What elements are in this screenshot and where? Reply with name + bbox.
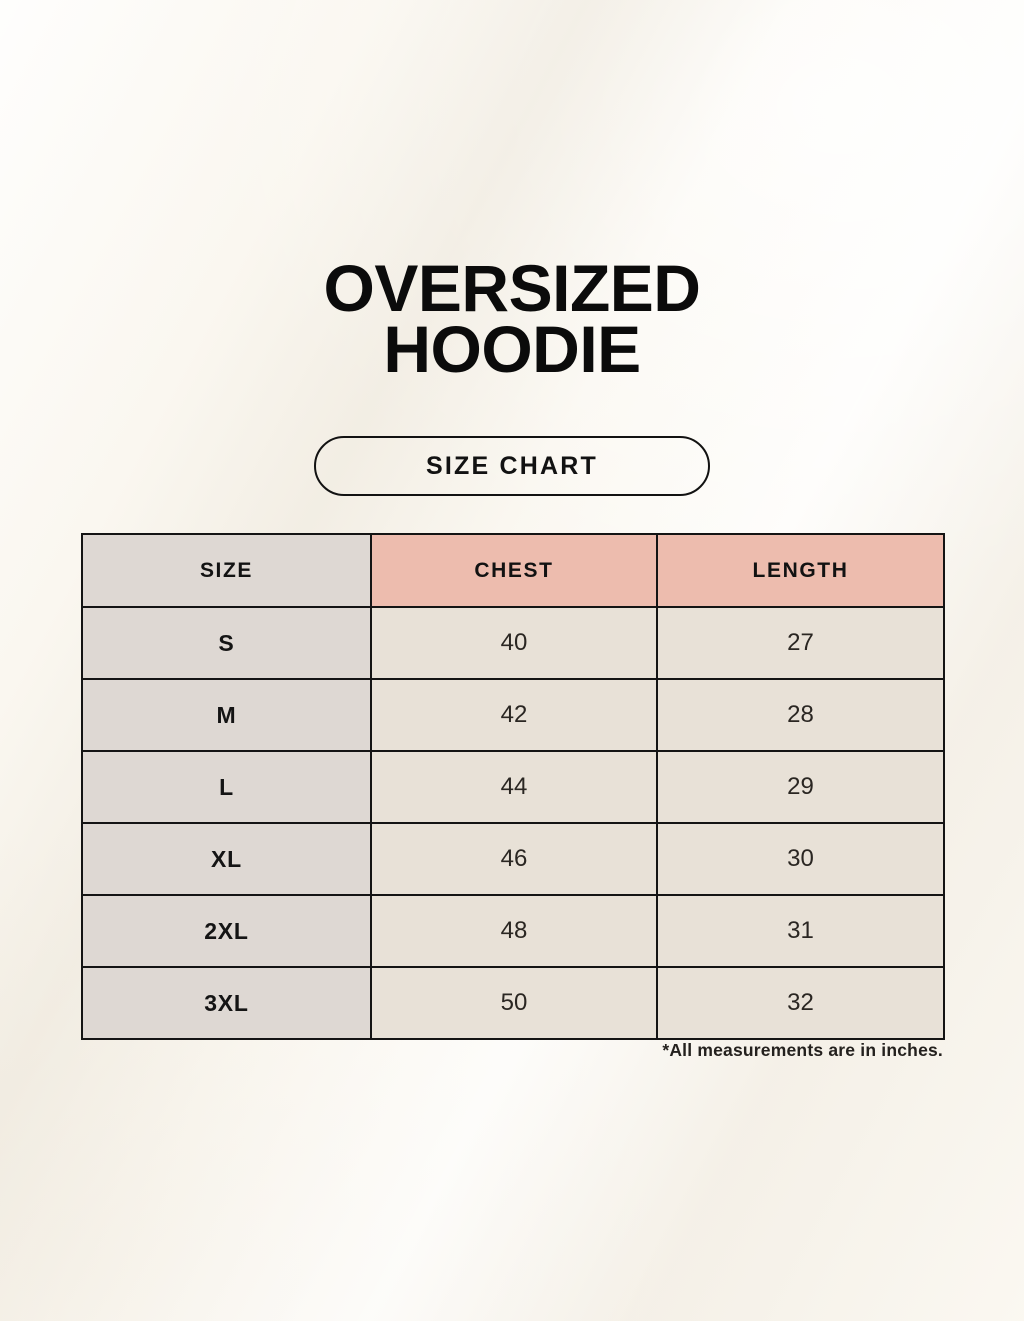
- size-chart-badge: SIZE CHART: [314, 436, 710, 496]
- column-header-length: LENGTH: [657, 534, 944, 607]
- size-chart-page: OVERSIZED HOODIE SIZE CHART SIZE CHEST L…: [0, 0, 1024, 1321]
- page-title-line-1: OVERSIZED: [0, 258, 1024, 319]
- measurement-units-note: *All measurements are in inches.: [81, 1040, 943, 1061]
- cell-length: 28: [657, 679, 944, 751]
- cell-size: L: [82, 751, 371, 823]
- cell-size: M: [82, 679, 371, 751]
- cell-size: 2XL: [82, 895, 371, 967]
- table-row: M 42 28: [82, 679, 944, 751]
- column-header-chest: CHEST: [371, 534, 657, 607]
- size-chart-table: SIZE CHEST LENGTH S 40 27 M 42 28 L: [81, 533, 945, 1040]
- table-body: S 40 27 M 42 28 L 44 29 XL 46 30: [82, 607, 944, 1039]
- cell-size: XL: [82, 823, 371, 895]
- cell-length: 30: [657, 823, 944, 895]
- cell-length: 31: [657, 895, 944, 967]
- table-row: XL 46 30: [82, 823, 944, 895]
- cell-chest: 48: [371, 895, 657, 967]
- table-header: SIZE CHEST LENGTH: [82, 534, 944, 607]
- table-row: S 40 27: [82, 607, 944, 679]
- cell-length: 29: [657, 751, 944, 823]
- table-row: 2XL 48 31: [82, 895, 944, 967]
- cell-length: 27: [657, 607, 944, 679]
- column-header-size: SIZE: [82, 534, 371, 607]
- cell-chest: 44: [371, 751, 657, 823]
- page-title: OVERSIZED HOODIE: [0, 258, 1024, 381]
- cell-chest: 40: [371, 607, 657, 679]
- cell-size: 3XL: [82, 967, 371, 1039]
- table-row: 3XL 50 32: [82, 967, 944, 1039]
- table-header-row: SIZE CHEST LENGTH: [82, 534, 944, 607]
- cell-size: S: [82, 607, 371, 679]
- size-chart-badge-label: SIZE CHART: [426, 452, 598, 481]
- cell-chest: 42: [371, 679, 657, 751]
- table-row: L 44 29: [82, 751, 944, 823]
- page-title-line-2: HOODIE: [0, 319, 1024, 380]
- size-table-container: SIZE CHEST LENGTH S 40 27 M 42 28 L: [81, 533, 943, 1040]
- cell-chest: 50: [371, 967, 657, 1039]
- cell-length: 32: [657, 967, 944, 1039]
- cell-chest: 46: [371, 823, 657, 895]
